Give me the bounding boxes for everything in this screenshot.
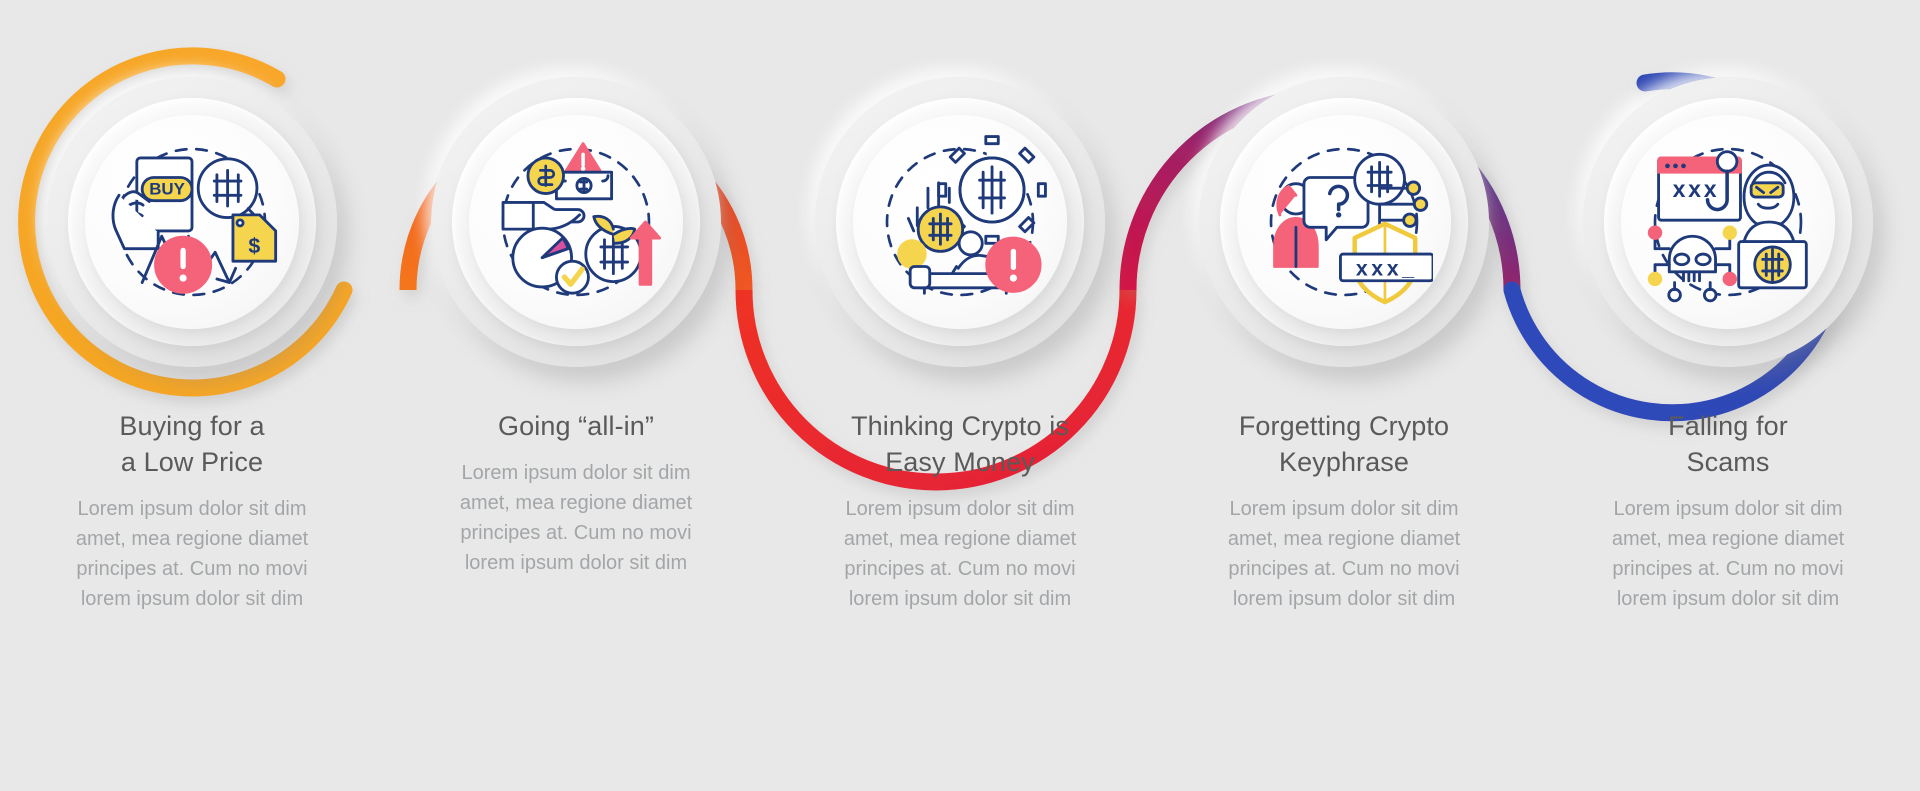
steps-row: BUY	[0, 0, 1920, 791]
step-5-description: Lorem ipsum dolor sit dim amet, mea regi…	[1563, 494, 1893, 614]
step-3-title: Thinking Crypto is Easy Money	[795, 408, 1125, 480]
forgetting-keyphrase-icon: xxx_	[1255, 133, 1433, 311]
svg-text:$: $	[248, 234, 260, 258]
step-3-disc	[810, 72, 1110, 372]
infographic-root: BUY	[0, 0, 1920, 791]
disc-inner-face: BUY	[85, 115, 299, 329]
step-2-text: Going “all-in” Lorem ipsum dolor sit dim…	[411, 408, 741, 578]
falling-for-scams-icon: xxx	[1639, 133, 1817, 311]
step-4-disc: xxx_	[1194, 72, 1494, 372]
going-all-in-icon	[487, 133, 665, 311]
step-5[interactable]: xxx	[1536, 0, 1920, 791]
step-5-text: Falling for Scams Lorem ipsum dolor sit …	[1563, 408, 1893, 614]
disc-inner-face: xxx	[1621, 115, 1835, 329]
step-3[interactable]: Thinking Crypto is Easy Money Lorem ipsu…	[768, 0, 1152, 791]
step-5-disc: xxx	[1578, 72, 1878, 372]
step-2[interactable]: Going “all-in” Lorem ipsum dolor sit dim…	[384, 0, 768, 791]
step-1-description: Lorem ipsum dolor sit dim amet, mea regi…	[27, 494, 357, 614]
step-4[interactable]: xxx_ Forgetting Crypto Keyphrase Lorem i…	[1152, 0, 1536, 791]
step-2-description: Lorem ipsum dolor sit dim amet, mea regi…	[411, 458, 741, 578]
step-1-disc: BUY	[42, 72, 342, 372]
step-3-description: Lorem ipsum dolor sit dim amet, mea regi…	[795, 494, 1125, 614]
step-1[interactable]: BUY	[0, 0, 384, 791]
buy-badge-label: BUY	[149, 179, 185, 198]
step-2-title: Going “all-in”	[411, 408, 741, 444]
step-5-title: Falling for Scams	[1563, 408, 1893, 480]
crypto-easy-money-icon	[871, 133, 1049, 311]
step-1-title: Buying for a a Low Price	[27, 408, 357, 480]
disc-inner-face	[469, 115, 683, 329]
step-4-description: Lorem ipsum dolor sit dim amet, mea regi…	[1179, 494, 1509, 614]
keyphrase-badge-label: xxx_	[1356, 256, 1418, 280]
disc-inner-face	[853, 115, 1067, 329]
buy-low-price-icon: BUY	[103, 133, 281, 311]
disc-inner-face: xxx_	[1237, 115, 1451, 329]
step-1-text: Buying for a a Low Price Lorem ipsum dol…	[27, 408, 357, 614]
step-2-disc	[426, 72, 726, 372]
step-4-title: Forgetting Crypto Keyphrase	[1179, 408, 1509, 480]
scam-badge-label: xxx	[1673, 176, 1720, 202]
step-4-text: Forgetting Crypto Keyphrase Lorem ipsum …	[1179, 408, 1509, 614]
step-3-text: Thinking Crypto is Easy Money Lorem ipsu…	[795, 408, 1125, 614]
